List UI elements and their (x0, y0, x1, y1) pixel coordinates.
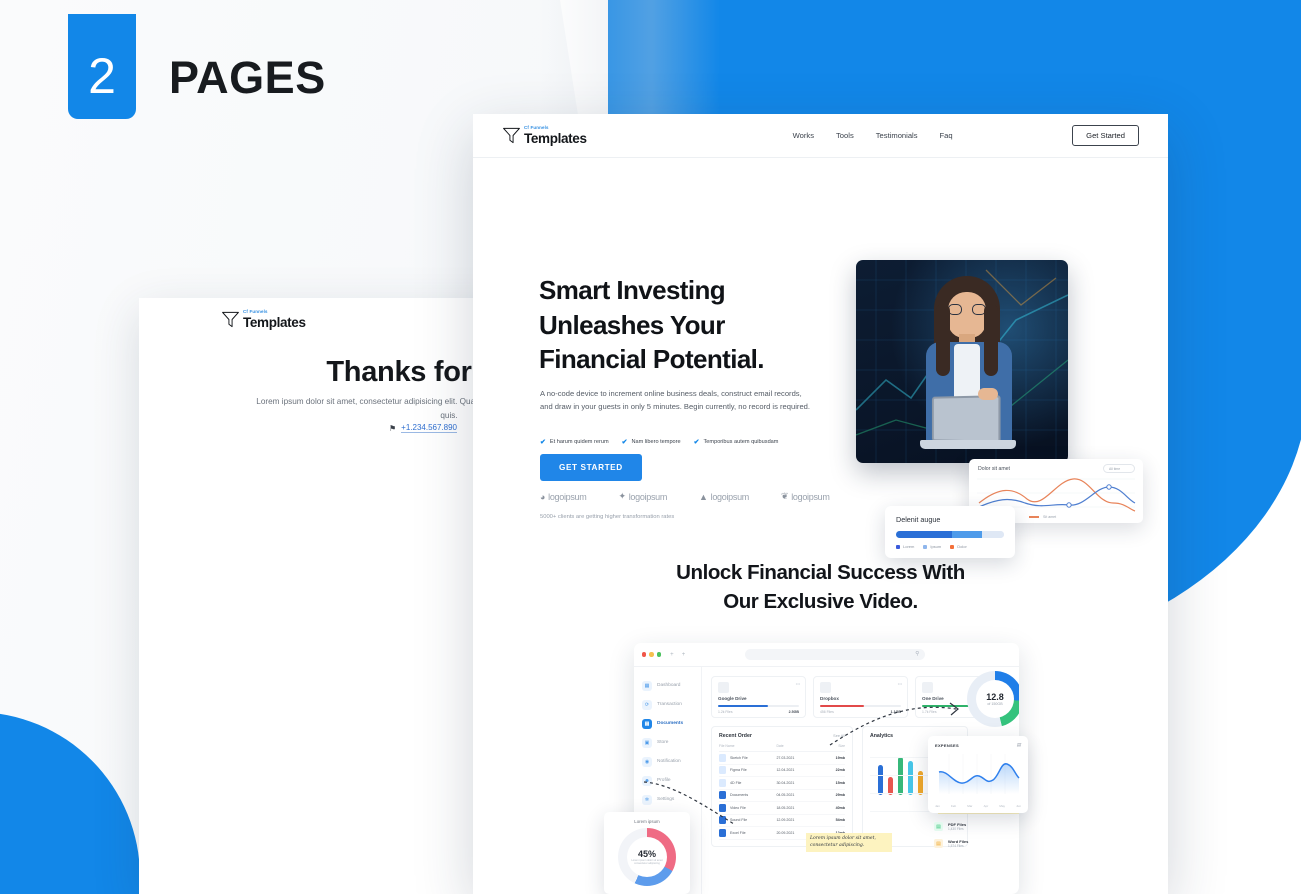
logo-small-text: Cf Funnels (524, 126, 587, 130)
month-label: Mar (967, 804, 972, 808)
storage-used: 1.7k Files (922, 710, 937, 714)
refresh-icon: ⟳ (642, 700, 652, 710)
feature-item: ✔ Et harum quidem rerum (540, 438, 609, 446)
hero-title-line-2: Unleashes Your (539, 310, 725, 340)
person-hair-front-left (936, 304, 950, 376)
donut-value: 12.8 (986, 692, 1004, 702)
logo-name: Templates (243, 316, 306, 330)
client-logo: ▲ logoipsum (699, 492, 749, 502)
cell-file-name: Documents (730, 793, 748, 797)
sidebar-item-profile[interactable]: ☻Profile (642, 771, 701, 790)
table-row[interactable]: Sketch File27.03.202119mb (719, 752, 845, 765)
nav-item-faq[interactable]: Faq (940, 131, 953, 140)
person-hand (978, 388, 998, 400)
table-header: File Name Date Size (719, 744, 845, 752)
hero-photo (856, 260, 1068, 463)
cell-size: 22mb (819, 768, 845, 772)
sidebar-label: Settings (657, 797, 674, 802)
lorem-donut-value: 45% (638, 849, 656, 859)
person-shirt (954, 344, 980, 400)
overlay-chart-legend: Sit amet (1029, 515, 1056, 519)
drive-icon (922, 682, 933, 693)
month-label: Feb (951, 804, 956, 808)
cell-date: 12.04.2021 (776, 768, 819, 772)
cell-file-name: Excel File (730, 831, 746, 835)
logo-mark-icon: ❦ (781, 491, 788, 502)
file-icon (719, 829, 726, 837)
hero-section: Smart Investing Unleashes Your Financial… (473, 158, 1168, 520)
pages-badge-number: 2 (68, 14, 136, 119)
bar-3 (898, 757, 903, 795)
storage-track (820, 705, 901, 707)
overlay-chart-filter-label: All time (1109, 467, 1120, 471)
overlay-chart-filter[interactable]: All time (1103, 464, 1135, 473)
cell-date: 30.04.2021 (776, 781, 819, 785)
sidebar-item-store[interactable]: ▣Store (642, 733, 701, 752)
feature-item: ✔ Nam libero tempore (622, 438, 681, 446)
file-icon (719, 766, 726, 774)
cell-date: 27.03.2021 (776, 756, 819, 760)
month-label: Jan (935, 804, 940, 808)
close-dot-icon (642, 652, 646, 656)
drive-icon (820, 682, 831, 693)
table-row[interactable]: Documents04.05.202129mb (719, 790, 845, 803)
plus-icon-2: + (682, 652, 686, 658)
feature-label: Nam libero tempore (632, 439, 681, 445)
legend-label: Sit amet (1043, 515, 1056, 519)
site-navbar: Cf Funnels Templates Works Tools Testimo… (473, 114, 1168, 158)
grid-icon: ▦ (642, 681, 652, 691)
person-face (948, 292, 986, 338)
funnel-icon (502, 126, 521, 145)
lorem-card-title: Lorem ipsum (611, 819, 683, 824)
section-two-line-2: Our Exclusive Video. (723, 590, 918, 613)
month-label: May (999, 804, 1005, 808)
file-icon (719, 779, 726, 787)
check-icon: ✔ (622, 438, 628, 446)
file-type-row[interactable]: ▤ PDF Files1,430 Files (928, 818, 1028, 835)
sidebar-item-dashboard[interactable]: ▦Dashboard (642, 676, 701, 695)
client-logo-text: logoipsum (791, 492, 829, 502)
month-label: Apr (984, 804, 989, 808)
column-size[interactable]: Size (819, 744, 845, 748)
clients-caption: 5000+ clients are getting higher transfo… (540, 514, 674, 520)
overlay-chart-title: Dolor sit amet (978, 466, 1010, 472)
hero-title-line-3: Financial Potential. (539, 344, 764, 374)
client-logos: ◕ logoipsum ✦ logoipsum ▲ logoipsum ❦ lo… (540, 491, 830, 502)
check-icon: ✔ (694, 438, 700, 446)
storage-total: 1.1GB (891, 710, 901, 714)
legend-item: Ipsum (923, 544, 941, 549)
file-type-count: 1,430 Files (948, 827, 966, 831)
sidebar-label: Notification (657, 759, 681, 764)
file-icon (719, 816, 726, 824)
sidebar-item-transaction[interactable]: ⟳Transaction (642, 695, 701, 714)
plus-icon: + (670, 652, 674, 658)
nav-item-testimonials[interactable]: Testimonials (876, 131, 918, 140)
maximize-dot-icon (657, 652, 661, 656)
front-page-logo[interactable]: Cf Funnels Templates (502, 126, 587, 145)
person-photo (912, 276, 1032, 463)
cell-file-name: Sound File (730, 818, 747, 822)
sidebar-item-notification[interactable]: ◉Notification (642, 752, 701, 771)
more-icon[interactable]: ••• (898, 681, 902, 686)
flag-icon: ⚑ (389, 424, 396, 433)
hero-paragraph: A no-code device to increment online bus… (540, 388, 812, 414)
feature-item: ✔ Temporibus autem quibusdam (694, 438, 779, 446)
see-all-link[interactable]: See All (833, 734, 845, 738)
dashboard-search-input[interactable]: ⚲ (745, 649, 925, 660)
table-row[interactable]: Sound File12.09.202154mb (719, 815, 845, 828)
expenses-card: EXPENSES ▤ Jan Feb Mar Apr May Jun (928, 736, 1028, 813)
column-date[interactable]: Date (776, 744, 819, 748)
storage-cards: ••• Google Drive 1.2k Files2.5GB ••• Dro… (711, 676, 1010, 718)
pdf-icon: ▤ (934, 822, 943, 831)
storage-card[interactable]: ••• Dropbox 456 Files1.1GB (813, 676, 908, 718)
file-icon (719, 804, 726, 812)
overlay-progress-title: Delenit augue (896, 515, 1004, 524)
gear-icon: ✲ (642, 795, 652, 805)
legend-label: Lorem (903, 544, 914, 549)
sidebar-item-settings[interactable]: ✲Settings (642, 790, 701, 809)
screenshot-stage: 2 PAGES Cf Funnels Templates Thanks for … (0, 0, 1301, 894)
column-file-name[interactable]: File Name (719, 744, 776, 748)
logo-mark-icon: ✦ (618, 491, 625, 502)
overlay-progress-legend: Lorem Ipsum Dolor (896, 544, 1004, 549)
legend-swatch (1029, 516, 1039, 517)
expenses-month-labels: Jan Feb Mar Apr May Jun (935, 804, 1021, 808)
sidebar-label: Store (657, 740, 668, 745)
person-hair-front-right (984, 304, 998, 376)
expenses-title: EXPENSES (935, 743, 959, 748)
storage-donut-chart: 12.8 of 150GB (967, 671, 1019, 727)
minimize-dot-icon (649, 652, 653, 656)
overlay-progress-card: Delenit augue Lorem Ipsum Dolor (885, 506, 1015, 558)
table-row[interactable]: Figma File12.04.202122mb (719, 765, 845, 778)
bar-1 (878, 765, 883, 795)
sidebar-item-documents[interactable]: ▤Documents (642, 714, 701, 733)
legend-label: Ipsum (930, 544, 941, 549)
hero-feature-list: ✔ Et harum quidem rerum ✔ Nam libero tem… (540, 438, 778, 446)
cell-file-name: Figma File (730, 768, 747, 772)
feature-label: Temporibus autem quibusdam (704, 439, 779, 445)
cell-file-name: 4D File (730, 781, 741, 785)
bell-icon: ◉ (642, 757, 652, 767)
file-icon: ▤ (642, 719, 652, 729)
search-icon: ⚲ (915, 651, 919, 657)
sidebar-label: Dashboard (657, 683, 680, 688)
client-logo: ◕ logoipsum (540, 492, 586, 502)
section-two-line-1: Unlock Financial Success With (676, 561, 965, 584)
logo-name: Templates (524, 132, 587, 146)
lorem-donut-card: Lorem ipsum 45% Lorem ipsum dolor sit am… (604, 812, 690, 894)
cell-date: 04.05.2021 (776, 793, 819, 797)
file-type-count: 1,574 Files (948, 844, 968, 848)
sticky-note-table: Lorem ipsum dolor sit amet, consectetur … (806, 833, 892, 852)
logo-mark-icon: ◕ (540, 492, 545, 502)
window-controls[interactable] (642, 652, 661, 656)
section-two-title: Unlock Financial Success With Our Exclus… (473, 559, 1168, 616)
month-label: Jun (1016, 804, 1021, 808)
storage-used: 1.2k Files (718, 710, 733, 714)
back-page-logo[interactable]: Cf Funnels Templates (221, 310, 306, 329)
bag-icon: ▣ (642, 738, 652, 748)
hero-title: Smart Investing Unleashes Your Financial… (539, 273, 764, 377)
sidebar-label: Profile (657, 778, 671, 783)
client-logo-text: logoipsum (548, 492, 586, 502)
calendar-icon[interactable]: ▤ (1017, 742, 1021, 748)
nav-item-works[interactable]: Works (793, 131, 814, 140)
pages-badge: 2 PAGES (68, 14, 326, 119)
laptop-screen (932, 395, 1001, 443)
hero-cta-button[interactable]: GET STARTED (540, 454, 642, 481)
cell-date: 12.09.2021 (776, 818, 819, 822)
file-type-list: ▤ PDF Files1,430 Files ▤ Word Files1,574… (928, 818, 1028, 852)
laptop-base (920, 440, 1016, 449)
hero-title-line-1: Smart Investing (539, 275, 725, 305)
cell-file-name: Video File (730, 806, 746, 810)
table-row[interactable]: Video File18.05.202140mb (719, 802, 845, 815)
sidebar-label: Documents (657, 721, 683, 726)
storage-name: Google Drive (718, 696, 799, 701)
user-icon: ☻ (642, 776, 652, 786)
more-icon[interactable]: ••• (796, 681, 800, 686)
logo-mark-icon: ▲ (699, 492, 708, 502)
word-icon: ▤ (934, 839, 943, 848)
get-started-button[interactable]: Get Started (1072, 125, 1139, 146)
landing-page-mockup[interactable]: Cf Funnels Templates Works Tools Testimo… (473, 114, 1168, 894)
file-type-row[interactable]: ▤ Word Files1,574 Files (928, 835, 1028, 852)
bar-4 (908, 761, 913, 795)
expenses-area-chart (935, 752, 1021, 796)
cell-file-name: Sketch File (730, 756, 748, 760)
check-icon: ✔ (540, 438, 546, 446)
recent-order-title: Recent Order (719, 733, 752, 739)
overlay-progress-bar (896, 531, 1004, 538)
storage-card[interactable]: ••• Google Drive 1.2k Files2.5GB (711, 676, 806, 718)
pages-badge-label: PAGES (169, 30, 326, 104)
cell-size: 15mb (819, 781, 845, 785)
cell-size: 19mb (819, 756, 845, 760)
feature-label: Et harum quidem rerum (550, 439, 609, 445)
client-logo: ❦ logoipsum (781, 491, 830, 502)
lorem-donut-sub: Lorem ipsum dolor sit amet consectetur a… (630, 859, 664, 866)
nav-item-tools[interactable]: Tools (836, 131, 854, 140)
laptop-graphic (920, 396, 1016, 454)
legend-item: Dolor (950, 544, 967, 549)
table-row[interactable]: 4D File30.04.202115mb (719, 777, 845, 790)
sidebar-label: Transaction (657, 702, 682, 707)
lorem-donut-chart: 45% Lorem ipsum dolor sit amet consectet… (618, 828, 676, 886)
cell-size: 40mb (819, 806, 845, 810)
analytics-title: Analytics (870, 733, 893, 739)
cell-date: 18.05.2021 (776, 806, 819, 810)
funnel-icon (221, 310, 240, 329)
storage-track (718, 705, 799, 707)
file-icon (719, 754, 726, 762)
donut-unit: of 150GB (987, 702, 1002, 706)
cell-size: 54mb (819, 818, 845, 822)
logo-small-text: Cf Funnels (243, 310, 306, 314)
tab-add-icons[interactable]: ++ (670, 652, 685, 658)
thankyou-phone[interactable]: ⚑ +1.234.567.890 (389, 423, 457, 433)
file-icon (719, 791, 726, 799)
client-logo: ✦ logoipsum (618, 491, 667, 502)
storage-total: 2.5GB (789, 710, 799, 714)
phone-number[interactable]: +1.234.567.890 (401, 423, 457, 433)
recent-order-panel: Recent Order See All File Name Date Size… (711, 726, 853, 847)
nav-links: Works Tools Testimonials Faq (793, 131, 953, 140)
client-logo-text: logoipsum (629, 492, 667, 502)
legend-item: Lorem (896, 544, 914, 549)
glasses-icon (948, 304, 986, 315)
client-logo-text: logoipsum (711, 492, 749, 502)
cell-size: 29mb (819, 793, 845, 797)
drive-icon (718, 682, 729, 693)
dashboard-titlebar: ++ ⚲ (634, 643, 1019, 667)
storage-used: 456 Files (820, 710, 834, 714)
storage-name: Dropbox (820, 696, 901, 701)
legend-label: Dolor (957, 544, 967, 549)
